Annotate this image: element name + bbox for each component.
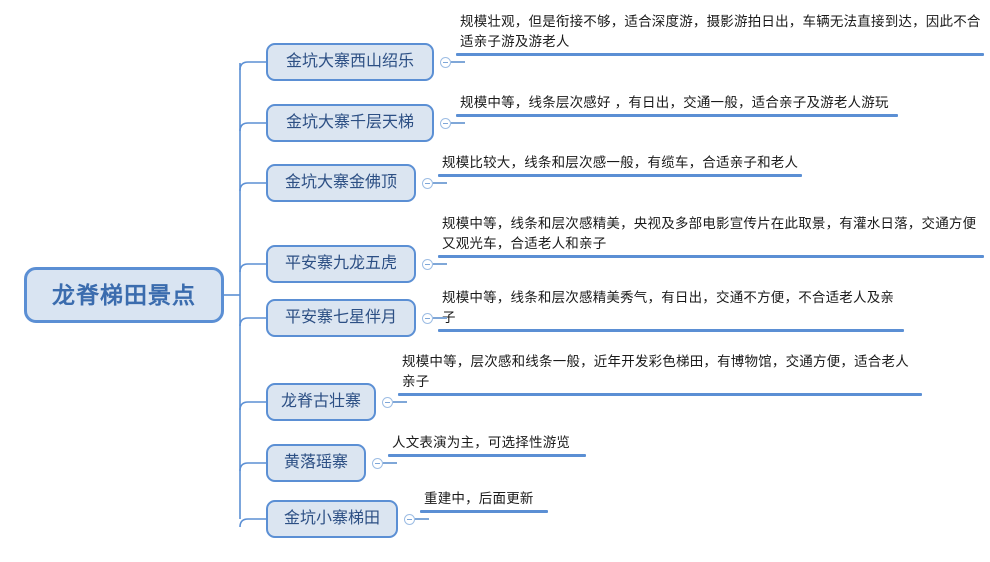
branch-node-6-label: 龙脊古壮寨 [281, 394, 361, 410]
note-7-stub [383, 462, 397, 464]
note-1-stub [451, 61, 465, 63]
branch-elbow-8 [240, 519, 266, 527]
note-6-stub [393, 401, 407, 403]
branch-node-8-label: 金坑小寨梯田 [284, 511, 380, 527]
collapse-minus-icon-3[interactable] [422, 178, 433, 189]
note-2-bar [456, 114, 898, 117]
note-4-bar [438, 255, 984, 258]
note-3-stub [433, 182, 447, 184]
note-2: 规模中等，线条层次感好 ，有日出，交通一般，适合亲子及游老人游玩 [456, 93, 898, 117]
note-6-text: 规模中等，层次感和线条一般，近年开发彩色梯田，有博物馆，交通方便，适合老人亲子 [398, 352, 922, 392]
collapse-minus-icon-5[interactable] [422, 313, 433, 324]
collapse-minus-icon-4[interactable] [422, 259, 433, 270]
collapse-minus-icon-6[interactable] [382, 397, 393, 408]
branch-node-4[interactable]: 平安寨九龙五虎 [266, 245, 416, 283]
note-4-text: 规模中等，线条和层次感精美，央视及多部电影宣传片在此取景，有灌水日落，交通方便又… [438, 214, 984, 254]
note-2-text: 规模中等，线条层次感好 ，有日出，交通一般，适合亲子及游老人游玩 [456, 93, 898, 113]
note-7: 人文表演为主，可选择性游览 [388, 433, 586, 457]
collapse-minus-icon-1[interactable] [440, 57, 451, 68]
note-1-bar [456, 53, 984, 56]
note-4: 规模中等，线条和层次感精美，央视及多部电影宣传片在此取景，有灌水日落，交通方便又… [438, 214, 984, 258]
collapse-minus-icon-7[interactable] [372, 458, 383, 469]
branch-node-1[interactable]: 金坑大寨西山绍乐 [266, 43, 434, 81]
branch-elbow-4 [240, 264, 266, 272]
branch-node-7[interactable]: 黄落瑶寨 [266, 444, 366, 482]
collapse-minus-icon-2[interactable] [440, 118, 451, 129]
note-3-text: 规模比较大，线条和层次感一般，有缆车，合适亲子和老人 [438, 153, 802, 173]
branch-elbow-2 [240, 123, 266, 131]
note-6: 规模中等，层次感和线条一般，近年开发彩色梯田，有博物馆，交通方便，适合老人亲子 [398, 352, 922, 396]
branch-node-7-label: 黄落瑶寨 [284, 455, 348, 471]
note-5-text: 规模中等，线条和层次感精美秀气，有日出，交通不方便，不合适老人及亲子 [438, 288, 904, 328]
root-node[interactable]: 龙脊梯田景点 [24, 267, 224, 323]
branch-elbow-3 [240, 183, 266, 191]
note-7-bar [388, 454, 586, 457]
note-2-stub [451, 122, 465, 124]
note-5-stub [433, 317, 447, 319]
mindmap-canvas: 龙脊梯田景点 金坑大寨西山绍乐 规模壮观，但是衔接不够，适合深度游，摄影游拍日出… [0, 0, 990, 562]
branch-node-4-label: 平安寨九龙五虎 [285, 256, 397, 272]
branch-elbow-1 [240, 62, 266, 70]
note-8-bar [420, 510, 548, 513]
branch-node-6[interactable]: 龙脊古壮寨 [266, 383, 376, 421]
branch-node-5[interactable]: 平安寨七星伴月 [266, 299, 416, 337]
note-8-text: 重建中，后面更新 [420, 489, 548, 509]
note-1-text: 规模壮观，但是衔接不够，适合深度游，摄影游拍日出，车辆无法直接到达，因此不合适亲… [456, 12, 984, 52]
note-7-text: 人文表演为主，可选择性游览 [388, 433, 586, 453]
note-6-bar [398, 393, 922, 396]
branch-node-3[interactable]: 金坑大寨金佛顶 [266, 164, 416, 202]
note-8-stub [415, 518, 429, 520]
note-3: 规模比较大，线条和层次感一般，有缆车，合适亲子和老人 [438, 153, 802, 177]
note-5: 规模中等，线条和层次感精美秀气，有日出，交通不方便，不合适老人及亲子 [438, 288, 904, 332]
note-1: 规模壮观，但是衔接不够，适合深度游，摄影游拍日出，车辆无法直接到达，因此不合适亲… [456, 12, 984, 56]
branch-node-5-label: 平安寨七星伴月 [285, 310, 397, 326]
branch-node-3-label: 金坑大寨金佛顶 [285, 175, 397, 191]
branch-elbow-7 [240, 463, 266, 471]
branch-node-1-label: 金坑大寨西山绍乐 [286, 54, 414, 70]
branch-node-8[interactable]: 金坑小寨梯田 [266, 500, 398, 538]
branch-elbow-5 [240, 318, 266, 326]
note-5-bar [438, 329, 904, 332]
root-node-label: 龙脊梯田景点 [52, 284, 196, 307]
collapse-minus-icon-8[interactable] [404, 514, 415, 525]
note-3-bar [438, 174, 802, 177]
branch-elbow-6 [240, 402, 266, 410]
note-4-stub [433, 263, 447, 265]
note-8: 重建中，后面更新 [420, 489, 548, 513]
branch-node-2-label: 金坑大寨千层天梯 [286, 115, 414, 131]
branch-node-2[interactable]: 金坑大寨千层天梯 [266, 104, 434, 142]
